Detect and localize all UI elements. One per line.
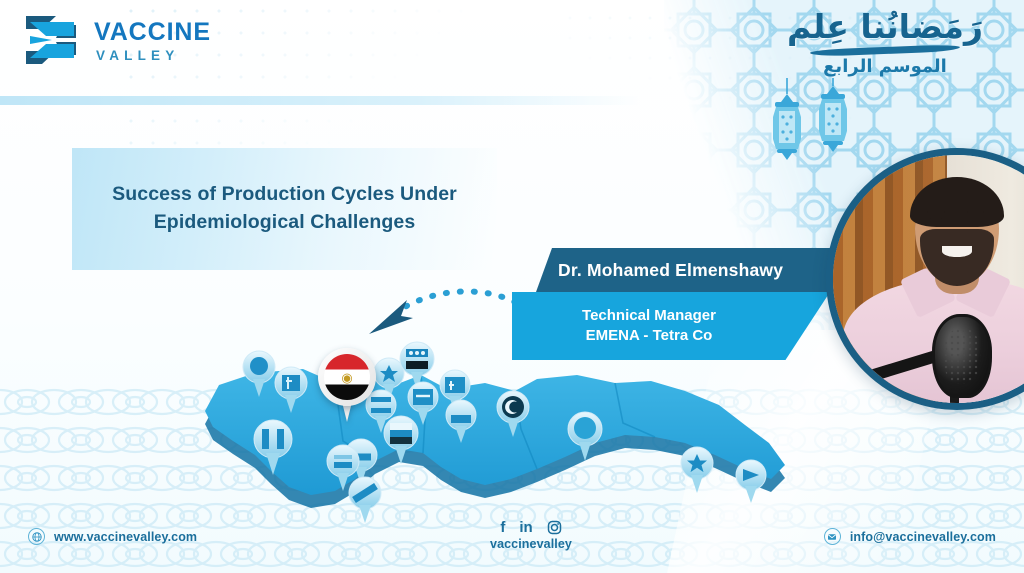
email-address: info@vaccinevalley.com [850,530,996,544]
portrait-eye-right [969,217,981,223]
talk-title-panel: Success of Production Cycles Under Epide… [72,148,497,270]
speaker-banner: Dr. Mohamed Elmenshawy Technical Manager… [512,248,830,368]
envelope-icon [824,528,841,545]
egypt-eagle-emblem: ◉ [341,371,352,384]
microphone-icon [932,314,992,398]
linkedin-icon[interactable]: in [519,520,532,535]
speaker-name-bar: Dr. Mohamed Elmenshawy [536,248,830,292]
speaker-role: Technical Manager [582,306,716,326]
ramadan-campaign-wordmark: رَمَضانُنا عِلم الموسم الرابع [770,8,1000,78]
portrait-eye-left [930,217,942,223]
instagram-icon[interactable] [547,520,562,535]
speaker-company: EMENA - Tetra Co [586,326,713,346]
facebook-icon[interactable]: f [500,520,505,535]
mena-region-map[interactable] [185,345,805,535]
portrait-brow-right [967,210,984,214]
social-links: f in vaccinevalley [476,520,586,551]
vaccine-valley-x-logo-icon [22,14,80,66]
brand-logo-text: VACCINE VALLEY [94,18,211,63]
microphone-grill [943,328,982,384]
slide-canvas: VACCINE VALLEY رَمَضانُنا عِلم الموسم ال… [0,0,1024,573]
talk-title: Success of Production Cycles Under Epide… [72,181,497,236]
portrait-brow-left [927,210,944,214]
speaker-name: Dr. Mohamed Elmenshawy [536,260,783,281]
brand-name-primary: VACCINE [94,20,211,45]
egypt-flag: ◉ [324,354,370,400]
globe-icon [28,528,45,545]
ramadan-title-arabic: رَمَضانُنا عِلم [770,8,1000,46]
email-link[interactable]: info@vaccinevalley.com [824,528,996,545]
website-link[interactable]: www.vaccinevalley.com [28,528,197,545]
ramadan-season-arabic: الموسم الرابع [770,56,1000,78]
header-accent-band [0,96,640,105]
speaker-portrait [826,148,1024,410]
speaker-role-bar: Technical Manager EMENA - Tetra Co [512,292,830,360]
social-handle: vaccinevalley [490,537,572,551]
brand-logo[interactable]: VACCINE VALLEY [22,14,211,66]
website-url: www.vaccinevalley.com [54,530,197,544]
brand-name-secondary: VALLEY [94,49,211,63]
egypt-flag-pin-icon[interactable]: ◉ [318,348,376,424]
portrait-smile [942,246,972,257]
